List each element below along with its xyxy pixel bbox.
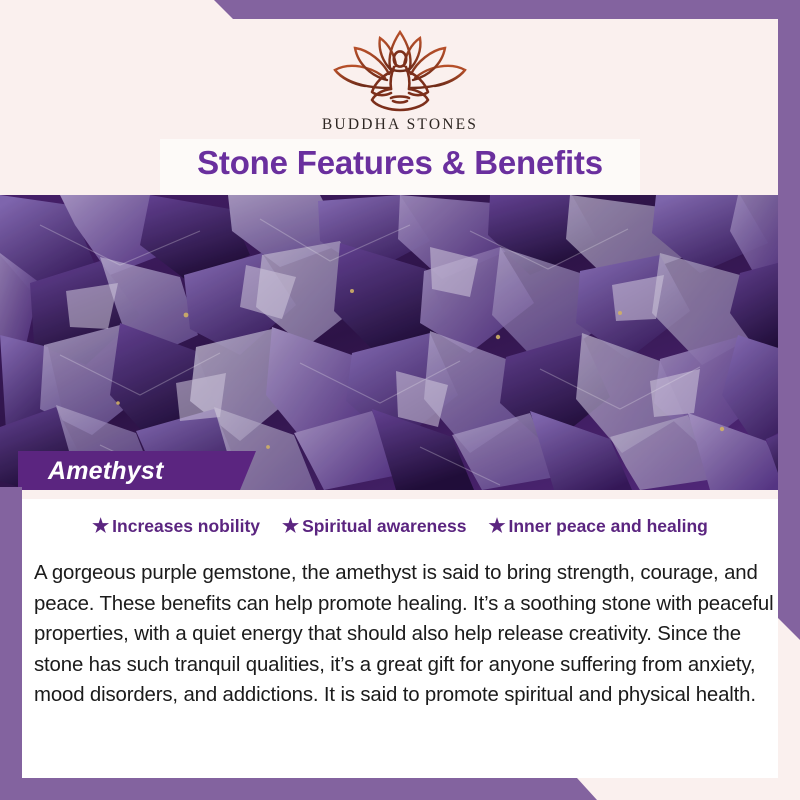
- benefit-label: Spiritual awareness: [302, 516, 466, 537]
- star-icon: ★: [282, 517, 299, 536]
- poster: BUDDHA STONES Stone Features & Benefits: [0, 0, 800, 800]
- page-title: Stone Features & Benefits: [0, 141, 800, 185]
- stone-description: A gorgeous purple gemstone, the amethyst…: [34, 558, 779, 711]
- brand-wordmark: BUDDHA STONES: [0, 116, 800, 134]
- benefit-item: ★ Inner peace and healing: [488, 516, 707, 537]
- benefit-label: Increases nobility: [112, 516, 260, 537]
- brand-logo: BUDDHA STONES: [0, 26, 800, 134]
- benefit-item: ★ Spiritual awareness: [282, 516, 466, 537]
- frame-band-left: [0, 487, 22, 800]
- lotus-meditation-icon: [325, 26, 475, 114]
- content-top-strip: [22, 490, 778, 499]
- benefit-item: ★ Increases nobility: [92, 516, 260, 537]
- star-icon: ★: [92, 517, 109, 536]
- benefits-list: ★ Increases nobility ★ Spiritual awarene…: [22, 516, 778, 537]
- benefit-label: Inner peace and healing: [509, 516, 708, 537]
- frame-band-right: [778, 0, 800, 640]
- star-icon: ★: [488, 517, 505, 536]
- stone-name-label: Amethyst: [48, 457, 164, 486]
- frame-band-bottom: [0, 778, 800, 800]
- header: BUDDHA STONES Stone Features & Benefits: [0, 0, 800, 195]
- amethyst-crystal-cluster-image: [0, 195, 800, 490]
- amethyst-photo: [0, 195, 800, 490]
